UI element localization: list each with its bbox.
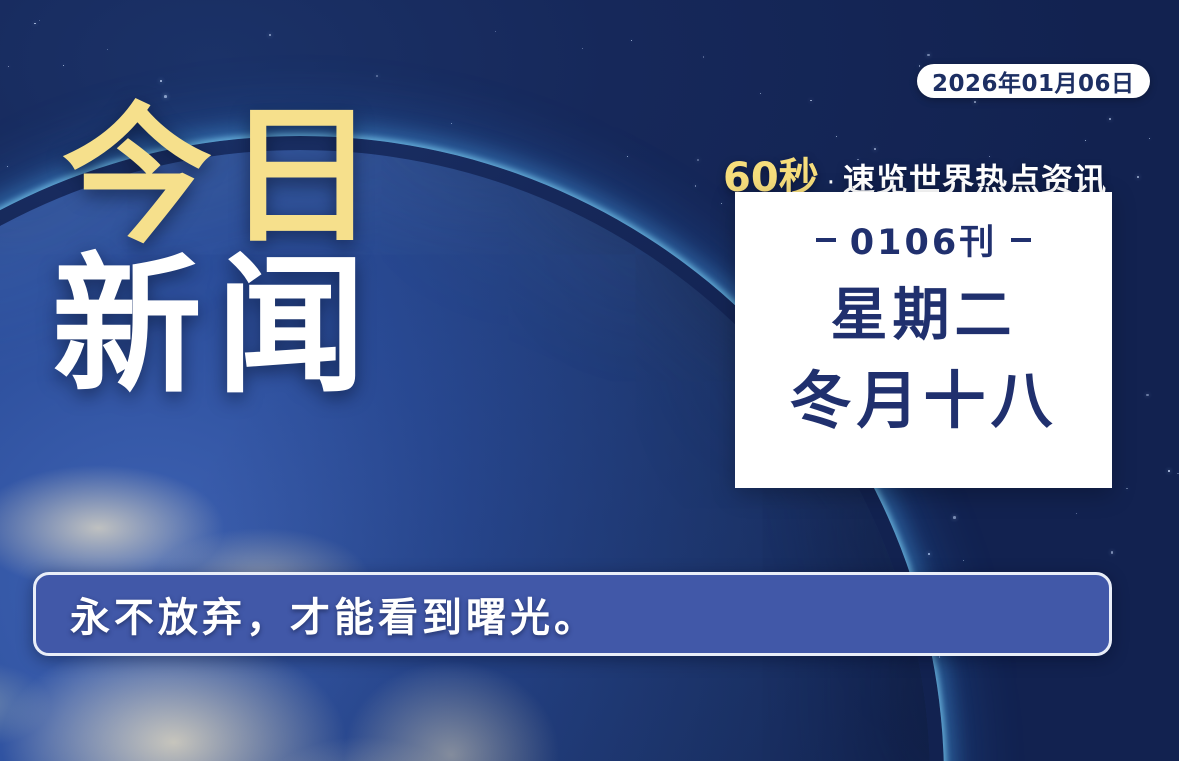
quote-banner: 永不放弃，才能看到曙光。 (33, 572, 1112, 656)
weekday-label: 星期二 (831, 287, 1017, 344)
news-poster: 2026年01月06日 今日 新闻 60秒 · 速览世界热点资讯 0106刊 星… (0, 0, 1179, 761)
issue-number-row: 0106刊 (816, 214, 1031, 265)
dash-left-icon (816, 238, 836, 242)
date-badge: 2026年01月06日 (917, 64, 1150, 98)
page-title: 今日 新闻 (62, 105, 390, 399)
issue-info-card: 0106刊 星期二 冬月十八 (735, 192, 1112, 488)
page-title-line-2: 新闻 (52, 255, 390, 399)
quote-text: 永不放弃，才能看到曙光。 (36, 585, 598, 643)
page-title-line-1: 今日 (62, 105, 390, 249)
lunar-date-label: 冬月十八 (789, 370, 1057, 432)
issue-number: 0106刊 (850, 214, 997, 265)
dash-right-icon (1011, 238, 1031, 242)
